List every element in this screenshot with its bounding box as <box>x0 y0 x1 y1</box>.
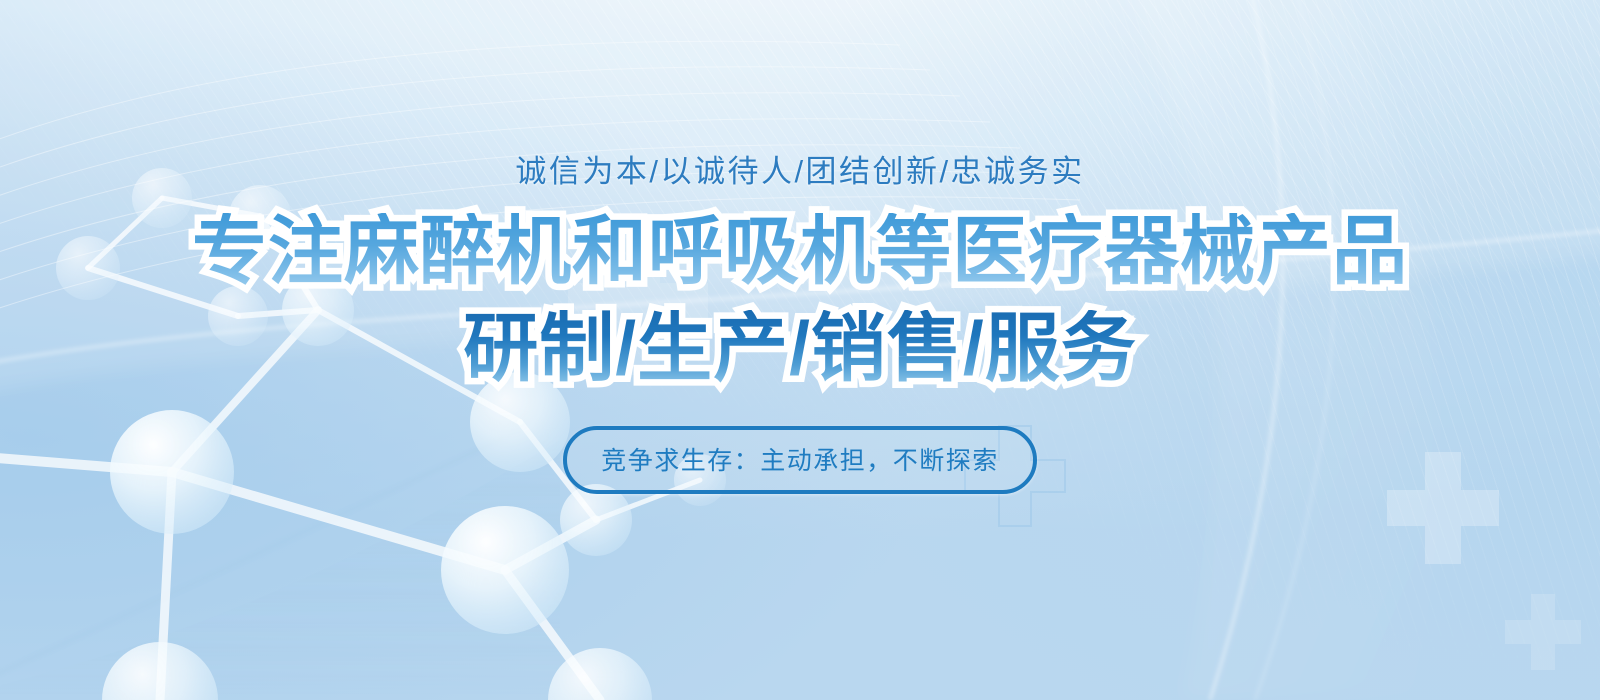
headline-line-1-text: 专注麻醉机和呼吸机等医疗器械产品 <box>192 213 1408 290</box>
hero-banner: 诚信为本/以诚待人/团结创新/忠诚务实 专注麻醉机和呼吸机等医疗器械产品 专注麻… <box>0 0 1600 700</box>
headline-line-1: 专注麻醉机和呼吸机等医疗器械产品 专注麻醉机和呼吸机等医疗器械产品 <box>192 213 1408 290</box>
banner-slogan: 诚信为本/以诚待人/团结创新/忠诚务实 <box>515 146 1084 191</box>
tagline-pill-badge[interactable]: 竞争求生存：主动承担，不断探索 <box>563 426 1037 494</box>
headline-line-2-text: 研制/生产/销售/服务 <box>463 310 1137 387</box>
banner-content: 诚信为本/以诚待人/团结创新/忠诚务实 专注麻醉机和呼吸机等医疗器械产品 专注麻… <box>0 0 1600 700</box>
headline-line-2: 研制/生产/销售/服务 研制/生产/销售/服务 <box>463 310 1137 387</box>
